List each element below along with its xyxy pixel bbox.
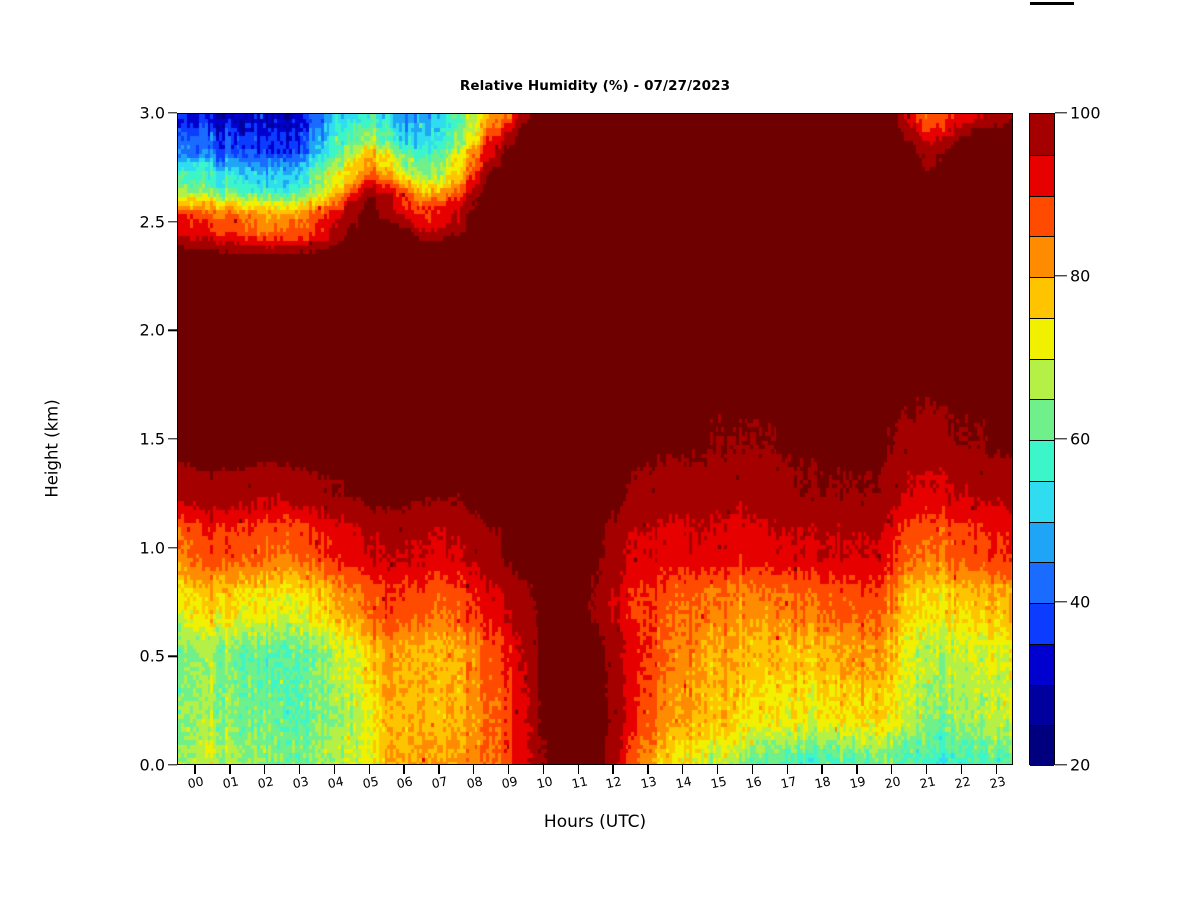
x-axis-tick-label: 22 [953,773,972,791]
colorbar-tick-label: 80 [1070,267,1090,286]
top-edge-mark [1030,2,1074,5]
colorbar-tick [1055,275,1067,276]
x-axis-tick-label: 17 [779,773,798,791]
y-axis-tick-label: 0.5 [140,647,165,666]
colorbar-tick-label: 100 [1070,104,1101,123]
x-axis-tick-label: 13 [639,773,658,791]
x-axis-title: Hours (UTC) [177,812,1013,832]
x-axis-tick [229,765,230,774]
x-axis-tick [787,765,788,774]
relative-humidity-field [178,114,1013,765]
x-axis-tick [334,765,335,774]
y-axis-tick-label: 3.0 [140,104,165,123]
colorbar-tick-label: 60 [1070,430,1090,449]
x-axis-tick-label: 06 [396,773,415,791]
colorbar-tick-label: 40 [1070,593,1090,612]
x-axis-tick-labels: 0001020304050607080910111213141516171819… [177,775,1013,801]
x-axis-tick [891,765,892,774]
y-axis-title: Height (km) [43,369,62,529]
x-axis-tick [647,765,648,774]
x-axis-tick-label: 16 [744,773,763,791]
x-axis-tick-label: 03 [291,773,310,791]
page-title: Relative Humidity (%) - 07/27/2023 [177,78,1013,94]
colorbar [1029,113,1055,765]
colorbar-tick-labels: 20406080100 [1070,113,1150,765]
x-axis-tick [543,765,544,774]
x-axis-tick [578,765,579,774]
x-axis-tick-label: 04 [326,773,345,791]
colorbar-band [1030,522,1054,563]
x-axis-tick [682,765,683,774]
colorbar-tick [1055,112,1067,113]
x-axis-tick [508,765,509,774]
x-axis-tick [821,765,822,774]
y-axis-tick [168,221,177,222]
x-axis-tick-label: 15 [709,773,728,791]
y-axis-tick-labels: 0.00.51.01.52.02.53.0 [113,113,165,765]
colorbar-band [1030,481,1054,522]
x-axis-tick [717,765,718,774]
colorbar-tick [1055,764,1067,765]
x-axis-tick-label: 08 [465,773,484,791]
x-axis-tick [438,765,439,774]
x-axis-tick [299,765,300,774]
x-axis-tick-label: 19 [848,773,867,791]
colorbar-band [1030,399,1054,440]
x-axis-tick [403,765,404,774]
x-axis-tick [264,765,265,774]
colorbar-band [1030,236,1054,277]
x-axis-tick [473,765,474,774]
x-axis-tick [369,765,370,774]
x-axis-tick [996,765,997,774]
y-axis-tick-label: 2.5 [140,212,165,231]
colorbar-band [1030,114,1054,155]
x-axis-tick-label: 05 [361,773,380,791]
colorbar-band [1030,196,1054,237]
colorbar-band [1030,725,1054,766]
colorbar-tick [1055,438,1067,439]
y-axis-tick [168,764,177,765]
y-axis-tick-label: 2.0 [140,321,165,340]
y-axis-ticks [168,113,177,765]
y-axis-tick [168,438,177,439]
x-axis-tick-label: 23 [988,773,1007,791]
x-axis-tick [961,765,962,774]
y-axis-tick-label: 1.5 [140,430,165,449]
x-axis-tick-label: 02 [256,773,275,791]
x-axis-tick-label: 09 [500,773,519,791]
x-axis-tick-label: 01 [221,773,240,791]
x-axis-tick-label: 12 [605,773,624,791]
x-axis-tick-label: 00 [187,773,206,791]
colorbar-tick-label: 20 [1070,756,1090,775]
colorbar-band [1030,644,1054,685]
y-axis-tick [168,547,177,548]
colorbar-tick [1055,601,1067,602]
x-axis-tick-label: 20 [883,773,902,791]
x-axis-tick [752,765,753,774]
colorbar-band [1030,277,1054,318]
colorbar-band [1030,562,1054,603]
colorbar-band [1030,685,1054,726]
colorbar-band [1030,440,1054,481]
y-axis-tick-label: 0.0 [140,756,165,775]
colorbar-band [1030,359,1054,400]
y-axis-tick [168,112,177,113]
heatmap-plot-area [177,113,1013,765]
x-axis-tick-label: 14 [674,773,693,791]
x-axis-tick-label: 21 [918,773,937,791]
x-axis-tick-label: 11 [570,773,589,791]
y-axis-tick [168,656,177,657]
x-axis-tick-label: 10 [535,773,554,791]
x-axis-tick-label: 18 [814,773,833,791]
x-axis-tick [926,765,927,774]
y-axis-tick [168,330,177,331]
x-axis-tick [194,765,195,774]
x-axis-ticks [177,765,1013,774]
colorbar-band [1030,318,1054,359]
colorbar-ticks [1055,113,1067,765]
x-axis-tick [856,765,857,774]
x-axis-tick-label: 07 [430,773,449,791]
colorbar-band [1030,603,1054,644]
figure-canvas: Relative Humidity (%) - 07/27/2023 0.00.… [0,0,1200,900]
colorbar-band [1030,155,1054,196]
x-axis-tick [612,765,613,774]
y-axis-tick-label: 1.0 [140,538,165,557]
